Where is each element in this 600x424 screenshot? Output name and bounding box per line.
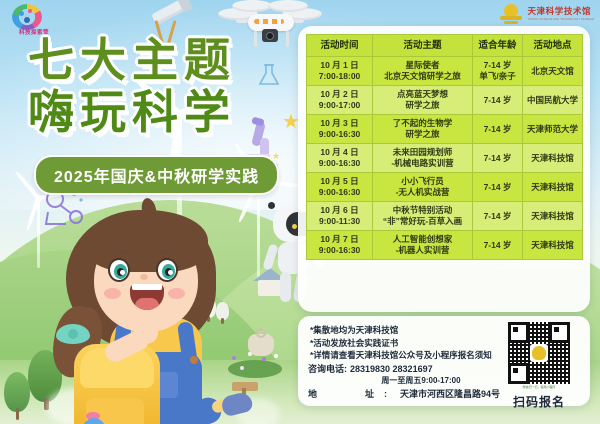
cell-topic-line: 研学之旅: [374, 129, 471, 140]
cell-topic-line: 点亮蓝天梦想: [374, 89, 471, 100]
note-item: *活动发放社会实践证书: [310, 337, 506, 350]
cell-place-line: 北京天文馆: [524, 66, 581, 77]
cell-time-line: 10 月 3 日: [308, 118, 371, 129]
table-row: 10 月 1 日7:00-18:00星际使者北京天文馆研学之旅7-14 岁单飞/…: [307, 57, 583, 86]
cell-topic-line: 北京天文馆研学之旅: [374, 71, 471, 82]
cell-age-line: 7-14 岁: [474, 211, 521, 222]
girl-character: [52, 196, 262, 424]
note-item: *详情请查看天津科技馆公众号及小程序报名须知: [310, 349, 506, 362]
cell-place-line: 天津科技馆: [524, 153, 581, 164]
cell-place: 天津科技馆: [523, 173, 583, 202]
qr-tag: 微信扫一扫，使用小程序: [502, 385, 576, 389]
poster-root: ★ ★: [0, 0, 600, 424]
cell-age-line: 7-14 岁: [474, 240, 521, 251]
col-header-time: 活动时间: [307, 35, 373, 57]
cell-topic: 小小飞行员-无人机实战营: [373, 173, 473, 202]
cell-place: 中国民航大学: [523, 86, 583, 115]
logo-right-label: 天津科学技术馆: [527, 7, 594, 16]
cell-topic-line: 未来田园规划师: [374, 147, 471, 158]
cell-age-line: 7-14 岁: [474, 124, 521, 135]
phone-value[interactable]: 28319830 28321697: [350, 363, 433, 375]
headline-line-2: 嗨玩科学: [28, 86, 296, 138]
cell-topic-line: 中秋节特别活动: [374, 205, 471, 216]
table-header-row: 活动时间 活动主题 适合年龄 活动地点: [307, 35, 583, 57]
cell-time-line: 9:00-16:30: [308, 129, 371, 140]
cell-place-line: 天津科技馆: [524, 211, 581, 222]
table-row: 10 月 4 日9:00-16:30未来田园规划师-机械电路实训营7-14 岁天…: [307, 144, 583, 173]
cell-time-line: 9:00-11:30: [308, 216, 371, 227]
col-header-place: 活动地点: [523, 35, 583, 57]
cell-topic: 星际使者北京天文馆研学之旅: [373, 57, 473, 86]
col-header-age: 适合年龄: [473, 35, 523, 57]
table-row: 10 月 7 日9:00-16:30人工智能创想家-机器人实训营7-14 岁天津…: [307, 231, 583, 260]
cell-time-line: 10 月 5 日: [308, 176, 371, 187]
phone-row: 咨询电话: 28319830 28321697: [308, 363, 508, 375]
table-row: 10 月 6 日9:00-11:30中秋节特别活动“非”常好玩-百草入画7-14…: [307, 202, 583, 231]
cell-age: 7-14 岁: [473, 231, 523, 260]
cell-place: 北京天文馆: [523, 57, 583, 86]
address-value: 天津市河西区隆昌路94号: [400, 388, 500, 400]
cell-age: 7-14 岁: [473, 173, 523, 202]
cell-time-line: 9:00-16:30: [308, 187, 371, 198]
cell-place-line: 中国民航大学: [524, 95, 581, 106]
cell-topic-line: -机器人实训营: [374, 245, 471, 256]
qr-center-logo-icon: [532, 346, 546, 360]
cell-age: 7-14 岁单飞/亲子: [473, 57, 523, 86]
cell-time: 10 月 1 日7:00-18:00: [307, 57, 373, 86]
cell-time: 10 月 7 日9:00-16:30: [307, 231, 373, 260]
col-header-topic: 活动主题: [373, 35, 473, 57]
logo-right-sublabel: TIANJIN SCIENCE AND TECHNOLOGY MUSEUM: [527, 18, 594, 21]
phone-hours: 周一至周五9:00-17:00: [334, 375, 508, 386]
cell-time-line: 10 月 6 日: [308, 205, 371, 216]
cell-age-line: 7-14 岁: [474, 95, 521, 106]
cell-topic-line: 人工智能创想家: [374, 234, 471, 245]
table-row: 10 月 5 日9:00-16:30小小飞行员-无人机实战营7-14 岁天津科技…: [307, 173, 583, 202]
cell-topic-line: -机械电路实训营: [374, 158, 471, 169]
cell-topic: 人工智能创想家-机器人实训营: [373, 231, 473, 260]
cell-place: 天津科技馆: [523, 144, 583, 173]
info-card: *集散地均为天津科技馆 *活动发放社会实践证书 *详情请查看天津科技馆公众号及小…: [298, 316, 590, 406]
phone-label: 咨询电话:: [308, 363, 347, 375]
logo-dot: [28, 9, 32, 13]
cell-time-line: 10 月 1 日: [308, 60, 371, 71]
address-row: 地 址: 天津市河西区隆昌路94号: [308, 388, 508, 400]
cell-age-line: 单飞/亲子: [474, 71, 521, 82]
address-label: 地 址:: [308, 388, 397, 400]
cell-topic: 未来田园规划师-机械电路实训营: [373, 144, 473, 173]
cell-age-line: 7-14 岁: [474, 182, 521, 193]
qr-code-image[interactable]: [508, 322, 570, 384]
cell-time-line: 10 月 4 日: [308, 147, 371, 158]
cell-time: 10 月 4 日9:00-16:30: [307, 144, 373, 173]
cell-time: 10 月 2 日9:00-17:00: [307, 86, 373, 115]
cell-place-line: 天津科技馆: [524, 240, 581, 251]
table-row: 10 月 2 日9:00-17:00点亮蓝天梦想研学之旅7-14 岁中国民航大学: [307, 86, 583, 115]
cell-age: 7-14 岁: [473, 86, 523, 115]
cell-topic: 中秋节特别活动“非”常好玩-百草入画: [373, 202, 473, 231]
cell-time-line: 9:00-17:00: [308, 100, 371, 111]
schedule-table: 活动时间 活动主题 适合年龄 活动地点 10 月 1 日7:00-18:00星际…: [306, 34, 583, 260]
logo-keji-tansuoying: 科技探索营: [6, 3, 62, 37]
sun-mark-icon: [500, 4, 522, 24]
cell-age-line: 7-14 岁: [474, 60, 521, 71]
tree-icon: [4, 372, 30, 420]
cell-topic: 点亮蓝天梦想研学之旅: [373, 86, 473, 115]
cell-time-line: 10 月 7 日: [308, 234, 371, 245]
logo-dot: [24, 17, 30, 23]
headline: 七大主题 嗨玩科学: [28, 34, 296, 138]
note-item: *集散地均为天津科技馆: [310, 324, 506, 337]
cell-topic-line: -无人机实战营: [374, 187, 471, 198]
cell-age: 7-14 岁: [473, 115, 523, 144]
qr-caption: 扫码报名: [502, 393, 576, 410]
notes-list: *集散地均为天津科技馆 *活动发放社会实践证书 *详情请查看天津科技馆公众号及小…: [310, 324, 506, 362]
cell-topic-line: 小小飞行员: [374, 176, 471, 187]
cell-topic-line: “非”常好玩-百草入画: [374, 216, 471, 227]
cell-topic-line: 研学之旅: [374, 100, 471, 111]
cell-time-line: 7:00-18:00: [308, 71, 371, 82]
cell-time-line: 10 月 2 日: [308, 89, 371, 100]
subtitle-pill: 2025年国庆&中秋研学实践: [34, 155, 279, 195]
cell-time: 10 月 6 日9:00-11:30: [307, 202, 373, 231]
cell-time-line: 9:00-16:30: [308, 245, 371, 256]
cell-place-line: 天津科技馆: [524, 182, 581, 193]
cell-place: 天津师范大学: [523, 115, 583, 144]
cell-age: 7-14 岁: [473, 202, 523, 231]
cell-place: 天津科技馆: [523, 202, 583, 231]
cell-age-line: 7-14 岁: [474, 153, 521, 164]
cell-topic: 了不起的生物学研学之旅: [373, 115, 473, 144]
cell-place-line: 天津师范大学: [524, 124, 581, 135]
qr-block[interactable]: 微信扫一扫，使用小程序 扫码报名: [502, 322, 576, 410]
cell-time: 10 月 5 日9:00-16:30: [307, 173, 373, 202]
cell-age: 7-14 岁: [473, 144, 523, 173]
cell-time-line: 9:00-16:30: [308, 158, 371, 169]
logo-dot: [19, 11, 24, 16]
cell-time: 10 月 3 日9:00-16:30: [307, 115, 373, 144]
cell-topic-line: 了不起的生物学: [374, 118, 471, 129]
cell-place: 天津科技馆: [523, 231, 583, 260]
contact-block: 咨询电话: 28319830 28321697 周一至周五9:00-17:00 …: [308, 363, 508, 400]
cell-topic-line: 星际使者: [374, 60, 471, 71]
logo-tianjin-stm: 天津科学技术馆 TIANJIN SCIENCE AND TECHNOLOGY M…: [500, 2, 594, 26]
headline-line-1: 七大主题: [28, 34, 296, 86]
table-row: 10 月 3 日9:00-16:30了不起的生物学研学之旅7-14 岁天津师范大…: [307, 115, 583, 144]
